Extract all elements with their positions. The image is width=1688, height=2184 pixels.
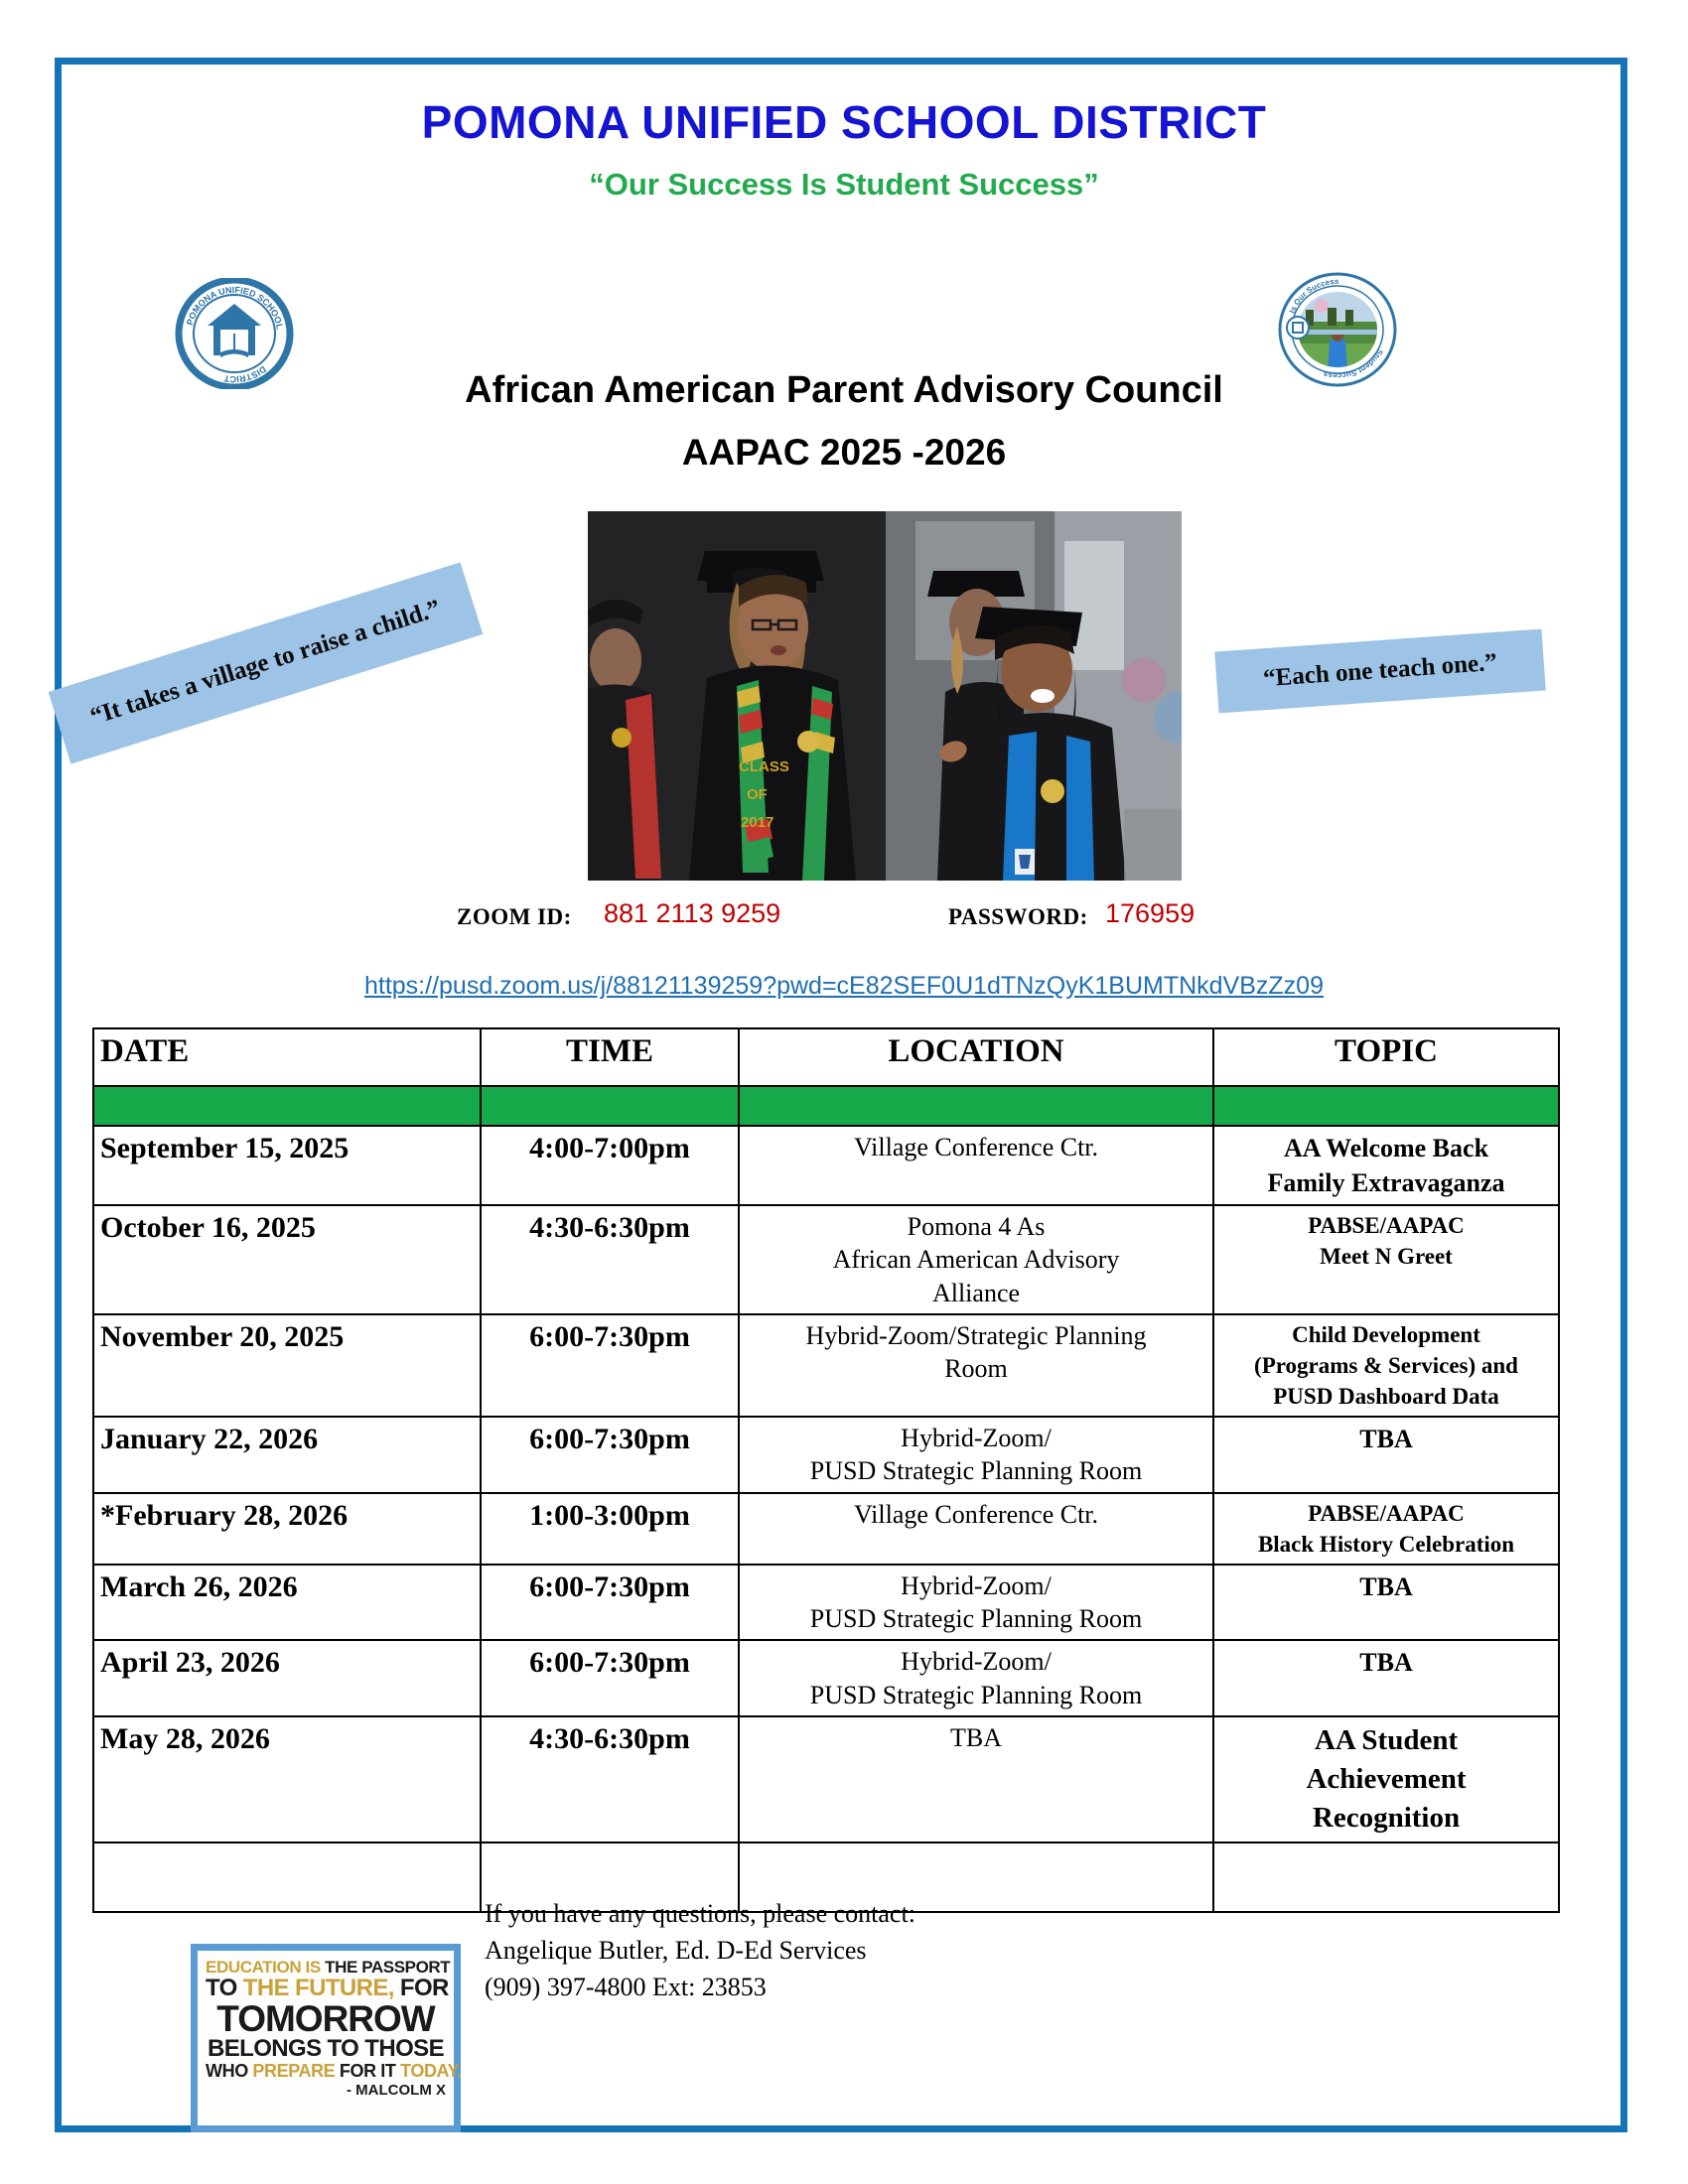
column-header-topic: TOPIC [1213,1028,1559,1086]
cell-location: Hybrid-Zoom/Strategic PlanningRoom [739,1314,1213,1417]
cell-date: May 28, 2026 [93,1716,481,1843]
cell-location: TBA [739,1716,1213,1843]
cell-location: Hybrid-Zoom/PUSD Strategic Planning Room [739,1417,1213,1493]
table-header-row: DATE TIME LOCATION TOPIC [93,1028,1559,1086]
cell-time: 4:30-6:30pm [481,1205,739,1314]
malcolm-x-quote-poster: EDUCATION IS THE PASSPORT TO THE FUTURE,… [191,1944,461,2132]
green-divider-cell [93,1086,481,1126]
cell-time: 6:00-7:30pm [481,1640,739,1716]
cell-location: Hybrid-Zoom/PUSD Strategic Planning Room [739,1640,1213,1716]
zoom-id-label: ZOOM ID: [457,904,572,930]
cell-date: September 15, 2025 [93,1126,481,1205]
cell-topic: TBA [1213,1565,1559,1641]
table-row: *February 28, 20261:00-3:00pmVillage Con… [93,1493,1559,1565]
green-divider-cell [1213,1086,1559,1126]
cell-topic: AA Welcome BackFamily Extravaganza [1213,1126,1559,1205]
cell-location: Village Conference Ctr. [739,1126,1213,1205]
cell-topic: TBA [1213,1640,1559,1716]
cell-topic: Child Development(Programs & Services) a… [1213,1314,1559,1417]
column-header-time: TIME [481,1028,739,1086]
cell-date: *February 28, 2026 [93,1493,481,1565]
poster-line-1: EDUCATION IS THE PASSPORT [206,1959,446,1976]
table-row: January 22, 20266:00-7:30pmHybrid-Zoom/P… [93,1417,1559,1493]
district-tagline: “Our Success Is Student Success” [0,167,1688,203]
cell-empty [1213,1843,1559,1912]
stole-class-text: CLASS [739,758,789,775]
zoom-password-label: PASSWORD: [948,904,1088,930]
meeting-schedule-table: DATE TIME LOCATION TOPIC September 15, 2… [92,1027,1560,1913]
contact-line-2: Angelique Butler, Ed. D-Ed Services [485,1933,915,1970]
zoom-id-value: 881 2113 9259 [604,898,780,929]
council-title: African American Parent Advisory Council [0,369,1688,412]
cell-date: October 16, 2025 [93,1205,481,1314]
graduation-photo: CLASS OF 2017 [588,511,1182,881]
table-row: May 28, 20264:30-6:30pmTBAAA StudentAchi… [93,1716,1559,1843]
table-row: April 23, 20266:00-7:30pmHybrid-Zoom/PUS… [93,1640,1559,1716]
table-row: November 20, 20256:00-7:30pmHybrid-Zoom/… [93,1314,1559,1417]
green-divider-cell [739,1086,1213,1126]
poster-line-5: WHO PREPARE FOR IT TODAY. [206,2062,446,2080]
stole-of-text: OF [747,786,768,803]
cell-topic: PABSE/AAPACBlack History Celebration [1213,1493,1559,1565]
poster-line-3: TOMORROW [206,2000,446,2037]
cell-time: 6:00-7:30pm [481,1565,739,1641]
cell-topic: TBA [1213,1417,1559,1493]
cell-time: 6:00-7:30pm [481,1314,739,1417]
poster-line-4: BELONGS TO THOSE [206,2037,446,2061]
cell-topic: PABSE/AAPACMeet N Greet [1213,1205,1559,1314]
district-title: POMONA UNIFIED SCHOOL DISTRICT [0,95,1688,149]
cell-time: 6:00-7:30pm [481,1417,739,1493]
cell-time: 1:00-3:00pm [481,1493,739,1565]
poster-attribution: - MALCOLM X [206,2083,446,2098]
contact-line-1: If you have any questions, please contac… [485,1896,915,1933]
column-header-date: DATE [93,1028,481,1086]
cell-location: Village Conference Ctr. [739,1493,1213,1565]
green-divider-row [93,1086,1559,1126]
poster-line-2: TO THE FUTURE, FOR [206,1977,446,2000]
council-year: AAPAC 2025 -2026 [0,432,1688,474]
cell-location: Pomona 4 AsAfrican American AdvisoryAlli… [739,1205,1213,1314]
stole-year-text: 2017 [741,814,774,831]
cell-date: March 26, 2026 [93,1565,481,1641]
cell-time: 4:00-7:00pm [481,1126,739,1205]
contact-block: If you have any questions, please contac… [485,1896,915,2006]
green-divider-cell [481,1086,739,1126]
column-header-location: LOCATION [739,1028,1213,1086]
zoom-password-value: 176959 [1105,898,1195,929]
cell-date: April 23, 2026 [93,1640,481,1716]
contact-line-3: (909) 397-4800 Ext: 23853 [485,1970,915,2006]
cell-topic: AA StudentAchievementRecognition [1213,1716,1559,1843]
cell-date: January 22, 2026 [93,1417,481,1493]
table-row: March 26, 20266:00-7:30pmHybrid-Zoom/PUS… [93,1565,1559,1641]
table-row: September 15, 20254:00-7:00pmVillage Con… [93,1126,1559,1205]
zoom-meeting-link[interactable]: https://pusd.zoom.us/j/88121139259?pwd=c… [0,972,1688,1001]
table-row: October 16, 20254:30-6:30pmPomona 4 AsAf… [93,1205,1559,1314]
cell-date: November 20, 2025 [93,1314,481,1417]
cell-empty [93,1843,481,1912]
cell-time: 4:30-6:30pm [481,1716,739,1843]
cell-location: Hybrid-Zoom/PUSD Strategic Planning Room [739,1565,1213,1641]
